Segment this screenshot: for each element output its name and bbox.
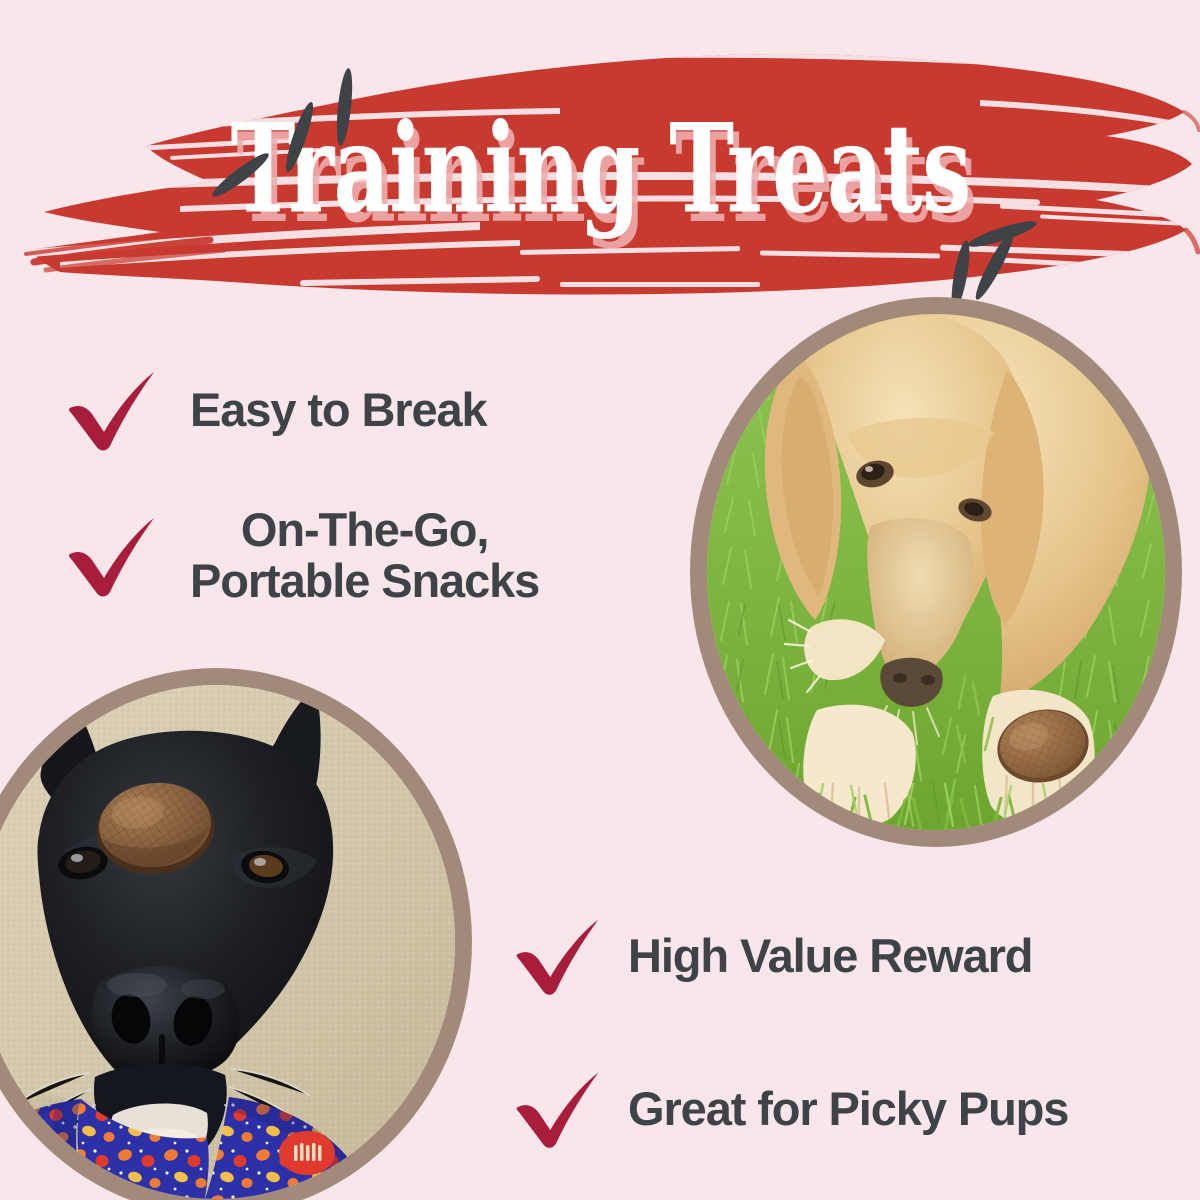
accent-dash-icon — [971, 229, 1018, 302]
check-icon — [62, 368, 162, 452]
page-title-text: Training Treats — [230, 108, 970, 231]
feature-label: High Value Reward — [628, 931, 1032, 982]
feature-label: Easy to Break — [190, 385, 487, 436]
feature-item-easy-to-break: Easy to Break — [62, 368, 487, 452]
check-icon — [62, 514, 162, 598]
check-icon — [510, 915, 606, 997]
golden-retriever-photo — [707, 314, 1165, 830]
promo-graphic-canvas: Training Treats — [0, 0, 1200, 1200]
feature-label: Great for Picky Pups — [628, 1084, 1068, 1135]
check-icon — [510, 1068, 606, 1150]
page-title: Training Treats — [0, 104, 1200, 234]
feature-item-picky-pups: Great for Picky Pups — [510, 1068, 1068, 1150]
feature-item-high-value-reward: High Value Reward — [510, 915, 1032, 997]
feature-label: On-The-Go, Portable Snacks — [190, 505, 539, 607]
feature-item-on-the-go: On-The-Go, Portable Snacks — [62, 505, 539, 607]
